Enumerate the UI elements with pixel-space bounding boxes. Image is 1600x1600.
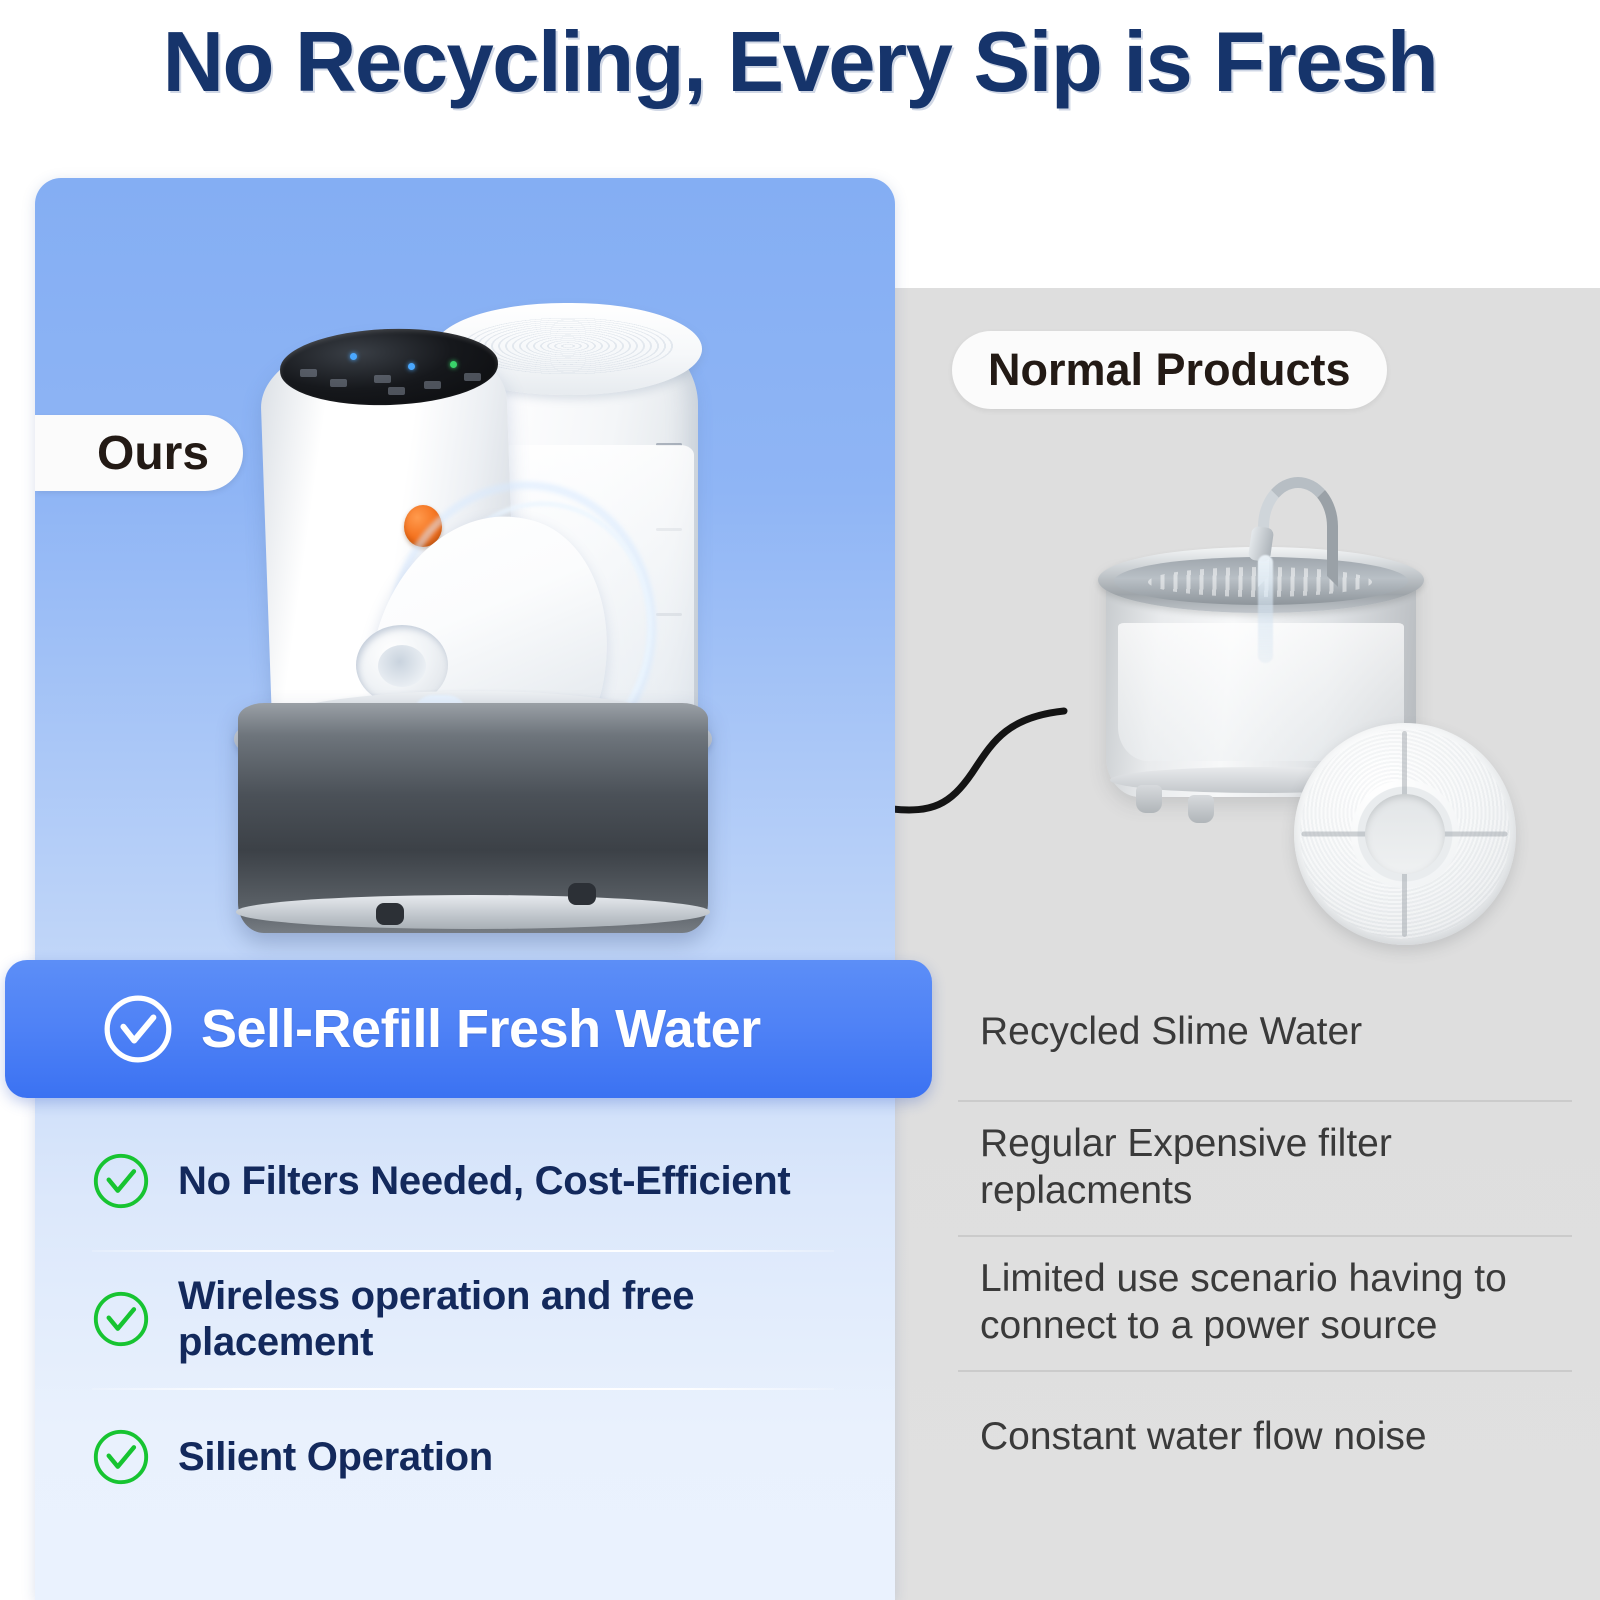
page-title: No Recycling, Every Sip is Fresh xyxy=(0,14,1600,112)
feature-text: Constant water flow noise xyxy=(980,1414,1427,1461)
panel-label xyxy=(300,369,317,377)
ours-label: Ours xyxy=(35,415,243,491)
ours-product-image xyxy=(228,295,738,875)
status-led-green xyxy=(450,361,457,368)
filter-center-hole xyxy=(1365,794,1445,874)
check-circle-icon xyxy=(90,1426,152,1488)
list-item: Wireless operation and free placement xyxy=(35,1250,895,1388)
replacement-filter-disc xyxy=(1294,723,1516,945)
normal-products-label: Normal Products xyxy=(952,331,1387,409)
highlight-feature-bar[interactable]: Sell-Refill Fresh Water xyxy=(5,960,932,1098)
list-item: Constant water flow noise xyxy=(878,1370,1600,1505)
feature-text: Silient Operation xyxy=(178,1434,493,1480)
highlight-feature-text: Sell-Refill Fresh Water xyxy=(201,998,761,1060)
list-item: Limited use scenario having to connect t… xyxy=(878,1235,1600,1370)
bowl-foot xyxy=(1136,785,1162,813)
list-item: Regular Expensive filter replacments xyxy=(878,1100,1600,1235)
panel-label xyxy=(388,387,405,395)
feature-text: No Filters Needed, Cost-Efficient xyxy=(178,1158,790,1204)
normal-products-feature-list: Recycled Slime Water Regular Expensive f… xyxy=(878,965,1600,1505)
bowl-bottom-trim xyxy=(236,895,710,929)
feature-text: Wireless operation and free placement xyxy=(178,1273,778,1366)
normal-product-image xyxy=(1062,455,1502,925)
list-item: No Filters Needed, Cost-Efficient xyxy=(35,1112,895,1250)
check-circle-icon xyxy=(90,1150,152,1212)
infographic-root: No Recycling, Every Sip is Fresh Normal … xyxy=(0,0,1600,1600)
bowl-foot xyxy=(568,883,596,905)
feature-text: Limited use scenario having to connect t… xyxy=(980,1256,1574,1350)
water-stream xyxy=(1258,555,1273,663)
status-led-blue xyxy=(408,363,415,370)
panel-label xyxy=(374,375,391,383)
feature-text: Recycled Slime Water xyxy=(980,1009,1362,1056)
list-item: Recycled Slime Water xyxy=(878,965,1600,1100)
panel-label xyxy=(330,379,347,387)
bowl-foot xyxy=(1188,795,1214,823)
bowl-foot xyxy=(376,903,404,925)
panel-label xyxy=(424,381,441,389)
panel-label xyxy=(464,373,481,381)
check-circle-icon xyxy=(90,1288,152,1350)
list-item: Silient Operation xyxy=(35,1388,895,1526)
status-led-blue xyxy=(350,353,357,360)
ours-feature-list: No Filters Needed, Cost-Efficient Wirele… xyxy=(35,1112,895,1526)
feature-text: Regular Expensive filter replacments xyxy=(980,1121,1574,1215)
check-circle-icon xyxy=(101,992,175,1066)
